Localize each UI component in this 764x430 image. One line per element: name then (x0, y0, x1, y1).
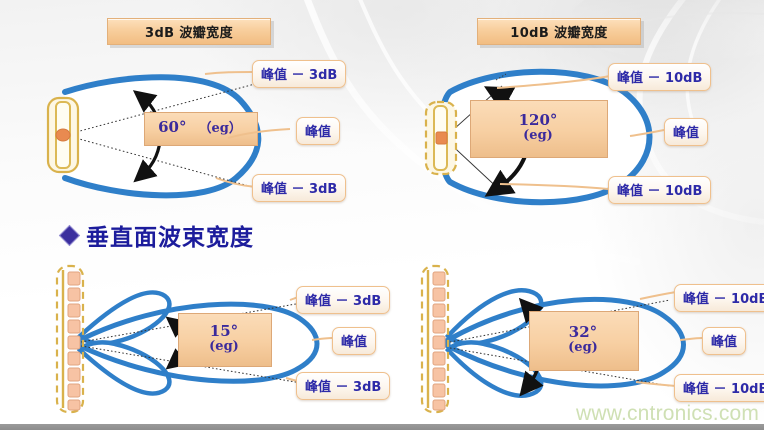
callout-peak-minus-10db-upper-right: 峰值 － 10dB (608, 63, 711, 91)
angle-note-60: （eg） (199, 122, 242, 137)
angle-plaque-15deg: 15° (eg) (178, 313, 270, 365)
angle-value-15: 15° (209, 323, 239, 340)
angle-value-120: 120° (519, 112, 558, 129)
antenna-vertical-array (422, 266, 448, 412)
antenna-vertical-array (57, 266, 83, 412)
section-heading-label: 垂直面波束宽度 (86, 218, 254, 252)
banner-10db-beamwidth: 10dB 波瓣宽度 (477, 18, 641, 45)
callout-peak-minus-10db-lower-right: 峰值 － 10dB (608, 176, 711, 204)
angle-plaque-text: 60° （eg） (158, 119, 242, 137)
antenna-single-panel (48, 98, 78, 172)
slide-canvas: 3dB 波瓣宽度 (0, 0, 764, 430)
angle-note-120: (eg) (519, 129, 558, 144)
callout-peak-right-top: 峰值 (664, 118, 708, 146)
angle-note-32: (eg) (568, 341, 598, 356)
callout-peak-minus-3db-upper-bottomleft: 峰值 － 3dB (296, 286, 390, 314)
callout-peak-minus-3db-upper-left: 峰值 － 3dB (252, 60, 346, 88)
angle-plaque-120deg: 120° (eg) (470, 100, 606, 156)
banner-3db-beamwidth: 3dB 波瓣宽度 (107, 18, 271, 45)
callout-peak-left-top: 峰值 (296, 117, 340, 145)
angle-plaque-text: 32° (eg) (568, 324, 598, 356)
callout-peak-minus-10db-lower-bottomright: 峰值 － 10dB (674, 374, 764, 402)
callout-peak-bottomleft: 峰值 (332, 327, 376, 355)
angle-plaque-32deg: 32° (eg) (529, 311, 637, 369)
angle-plaque-60deg: 60° （eg） (144, 112, 256, 144)
angle-value-60: 60° (158, 119, 186, 136)
angle-note-15: (eg) (209, 340, 239, 355)
angle-plaque-text: 15° (eg) (209, 323, 239, 355)
angle-plaque-text: 120° (eg) (519, 112, 558, 144)
bottom-gray-bar (0, 424, 764, 430)
section-heading-vertical-beamwidth: 垂直面波束宽度 (62, 218, 254, 252)
antenna-single-panel (426, 102, 456, 174)
callout-peak-minus-3db-lower-bottomleft: 峰值 － 3dB (296, 372, 390, 400)
callout-peak-bottomright: 峰值 (702, 327, 746, 355)
diamond-bullet-icon (59, 224, 80, 245)
callout-peak-minus-10db-upper-bottomright: 峰值 － 10dB (674, 284, 764, 312)
callout-peak-minus-3db-lower-left: 峰值 － 3dB (252, 174, 346, 202)
angle-value-32: 32° (568, 324, 598, 341)
